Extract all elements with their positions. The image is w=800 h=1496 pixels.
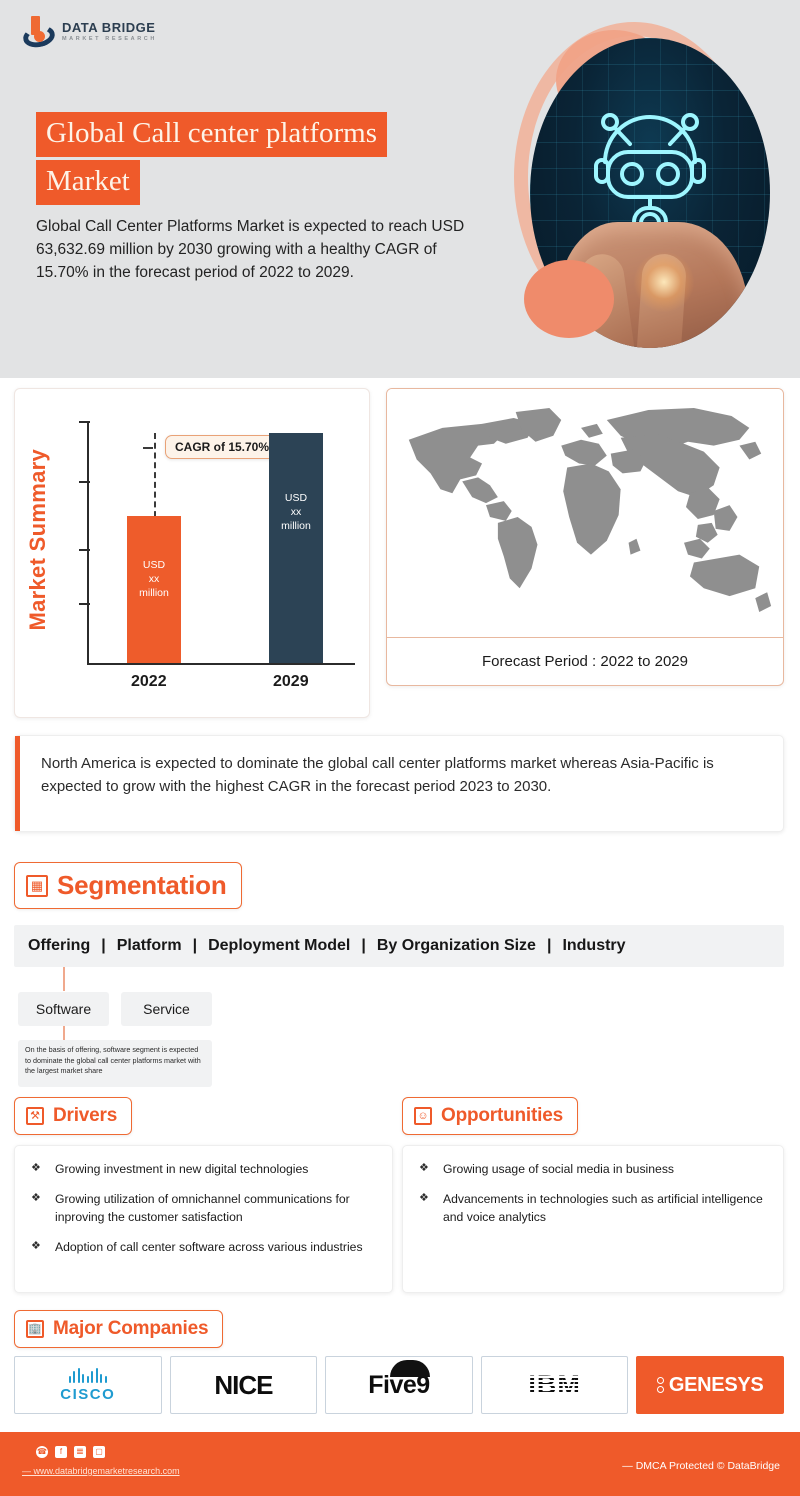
forecast-map-card: Forecast Period : 2022 to 2029 bbox=[386, 388, 784, 686]
chart-x-tick-labels: 2022 2029 bbox=[77, 673, 355, 695]
list-item: ❖ Adoption of call center software acros… bbox=[31, 1238, 376, 1256]
bullet-icon: ❖ bbox=[419, 1160, 431, 1178]
drivers-card: ❖ Growing investment in new digital tech… bbox=[14, 1145, 393, 1293]
instagram-icon[interactable]: ▢ bbox=[93, 1446, 105, 1458]
bullet-icon: ❖ bbox=[419, 1190, 431, 1226]
drivers-heading: ⚒ Drivers bbox=[14, 1097, 132, 1135]
driver-text: Adoption of call center software across … bbox=[55, 1238, 363, 1256]
hero-illustration bbox=[508, 12, 788, 362]
page-title-line-1: Global Call center platforms bbox=[36, 112, 387, 157]
brand-name: DATA BRIDGE bbox=[62, 21, 157, 34]
bullet-icon: ❖ bbox=[31, 1190, 43, 1226]
x-tick-label-2022: 2022 bbox=[131, 673, 167, 691]
list-item: ❖ Advancements in technologies such as a… bbox=[419, 1190, 767, 1226]
driver-text: Growing investment in new digital techno… bbox=[55, 1160, 308, 1178]
y-axis-line bbox=[87, 421, 89, 665]
genesys-wordmark: GENESYS bbox=[669, 1374, 764, 1397]
social-links: ☎ f 𝌆 ▢ bbox=[36, 1446, 105, 1458]
company-logo-nice[interactable]: NICE bbox=[170, 1356, 318, 1414]
infographic-page: DATA BRIDGE MARKET RESEARCH Global Call … bbox=[0, 0, 800, 1496]
accent-bar bbox=[15, 736, 20, 831]
world-map bbox=[387, 389, 783, 637]
header-description: Global Call Center Platforms Market is e… bbox=[36, 216, 476, 285]
drivers-heading-label: Drivers bbox=[53, 1105, 117, 1127]
bullet-icon: ❖ bbox=[31, 1160, 43, 1178]
segmentation-connector-line-2 bbox=[63, 1026, 65, 1040]
y-tick bbox=[79, 481, 90, 483]
opportunities-heading: ☺ Opportunities bbox=[402, 1097, 578, 1135]
storefront-icon: ▦ bbox=[26, 875, 48, 897]
segment-category-organization-size[interactable]: By Organization Size bbox=[377, 937, 536, 955]
segmentation-note: On the basis of offering, software segme… bbox=[18, 1040, 212, 1087]
segmentation-heading: ▦ Segmentation bbox=[14, 862, 242, 909]
segment-category-platform[interactable]: Platform bbox=[117, 937, 182, 955]
driver-text: Growing utilization of omnichannel commu… bbox=[55, 1190, 376, 1226]
brand-logo-text: DATA BRIDGE MARKET RESEARCH bbox=[62, 21, 157, 43]
sub-segment-service[interactable]: Service bbox=[121, 992, 212, 1026]
cagr-tick-left bbox=[143, 447, 153, 449]
opportunity-text: Advancements in technologies such as art… bbox=[443, 1190, 767, 1226]
genesys-mark-icon bbox=[657, 1377, 664, 1393]
opportunities-card: ❖ Growing usage of social media in busin… bbox=[402, 1145, 784, 1293]
company-logo-row: CISCO NICE Five9 IBM GENESYS bbox=[14, 1356, 784, 1414]
market-summary-chart-card: Market Summary CAGR of 15.70% USD xx bbox=[14, 388, 370, 718]
header-section: DATA BRIDGE MARKET RESEARCH Global Call … bbox=[0, 0, 800, 378]
footer-copyright: DMCA Protected © DataBridge bbox=[622, 1460, 780, 1472]
forecast-period-caption: Forecast Period : 2022 to 2029 bbox=[387, 638, 783, 685]
y-tick bbox=[79, 421, 90, 423]
databridge-logo-icon bbox=[22, 15, 56, 49]
tools-icon: ⚒ bbox=[26, 1107, 44, 1125]
segmentation-heading-label: Segmentation bbox=[57, 870, 227, 901]
page-title-line-2: Market bbox=[36, 160, 140, 205]
list-item: ❖ Growing usage of social media in busin… bbox=[419, 1160, 767, 1178]
bar-2022: USD xx million bbox=[127, 516, 181, 663]
major-companies-heading-label: Major Companies bbox=[53, 1318, 208, 1340]
phone-icon[interactable]: ☎ bbox=[36, 1446, 48, 1458]
chart-y-axis-title: Market Summary bbox=[25, 449, 51, 631]
facebook-icon[interactable]: f bbox=[55, 1446, 67, 1458]
hero-blob-bottom bbox=[524, 260, 614, 338]
glow-decor bbox=[634, 252, 694, 312]
segment-category-offering[interactable]: Offering bbox=[28, 937, 90, 955]
sub-segment-software[interactable]: Software bbox=[18, 992, 109, 1026]
bar-2029: USD xx million bbox=[269, 433, 323, 663]
twitter-icon[interactable]: 𝌆 bbox=[74, 1446, 86, 1458]
regional-insight-text: North America is expected to dominate th… bbox=[41, 753, 765, 799]
major-companies-heading: 🏢 Major Companies bbox=[14, 1310, 223, 1348]
segment-separator: | bbox=[182, 937, 208, 955]
brand-logo: DATA BRIDGE MARKET RESEARCH bbox=[22, 15, 157, 49]
page-title: Global Call center platforms Market bbox=[36, 112, 476, 208]
segmentation-connector-line bbox=[63, 967, 65, 991]
world-map-icon bbox=[387, 389, 783, 637]
cisco-wordmark: CISCO bbox=[60, 1386, 115, 1403]
brand-tagline: MARKET RESEARCH bbox=[62, 37, 157, 43]
segment-category-industry[interactable]: Industry bbox=[562, 937, 625, 955]
robot-icon bbox=[580, 92, 720, 242]
opportunities-heading-label: Opportunities bbox=[441, 1105, 563, 1127]
cagr-annotation: CAGR of 15.70% bbox=[165, 435, 279, 459]
building-icon: 🏢 bbox=[26, 1320, 44, 1338]
list-item: ❖ Growing utilization of omnichannel com… bbox=[31, 1190, 376, 1226]
bar-2029-label: USD xx million bbox=[269, 491, 323, 534]
list-item: ❖ Growing investment in new digital tech… bbox=[31, 1160, 376, 1178]
bar-2022-label: USD xx million bbox=[127, 558, 181, 601]
segment-separator: | bbox=[350, 937, 376, 955]
segmentation-categories-bar: Offering | Platform | Deployment Model |… bbox=[14, 925, 784, 967]
person-idea-icon: ☺ bbox=[414, 1107, 432, 1125]
cisco-bars-icon bbox=[69, 1368, 107, 1383]
opportunity-text: Growing usage of social media in busines… bbox=[443, 1160, 674, 1178]
x-axis-line bbox=[87, 663, 355, 665]
y-tick bbox=[79, 549, 90, 551]
ibm-wordmark: IBM bbox=[528, 1370, 581, 1401]
x-tick-label-2029: 2029 bbox=[273, 673, 309, 691]
segment-category-deployment-model[interactable]: Deployment Model bbox=[208, 937, 350, 955]
regional-insight-card: North America is expected to dominate th… bbox=[14, 735, 784, 832]
company-logo-cisco[interactable]: CISCO bbox=[14, 1356, 162, 1414]
footer-website-link[interactable]: www.databridgemarketresearch.com bbox=[22, 1466, 180, 1476]
bullet-icon: ❖ bbox=[31, 1238, 43, 1256]
cloud-icon bbox=[390, 1360, 430, 1377]
company-logo-genesys[interactable]: GENESYS bbox=[636, 1356, 784, 1414]
nice-wordmark: NICE bbox=[214, 1370, 272, 1401]
footer: ☎ f 𝌆 ▢ www.databridgemarketresearch.com… bbox=[0, 1432, 800, 1496]
segment-separator: | bbox=[90, 937, 116, 955]
company-logo-ibm[interactable]: IBM bbox=[481, 1356, 629, 1414]
company-logo-five9[interactable]: Five9 bbox=[325, 1356, 473, 1414]
y-tick bbox=[79, 603, 90, 605]
chart-plot-area: CAGR of 15.70% USD xx million USD xx mil… bbox=[77, 417, 355, 665]
segment-separator: | bbox=[536, 937, 562, 955]
